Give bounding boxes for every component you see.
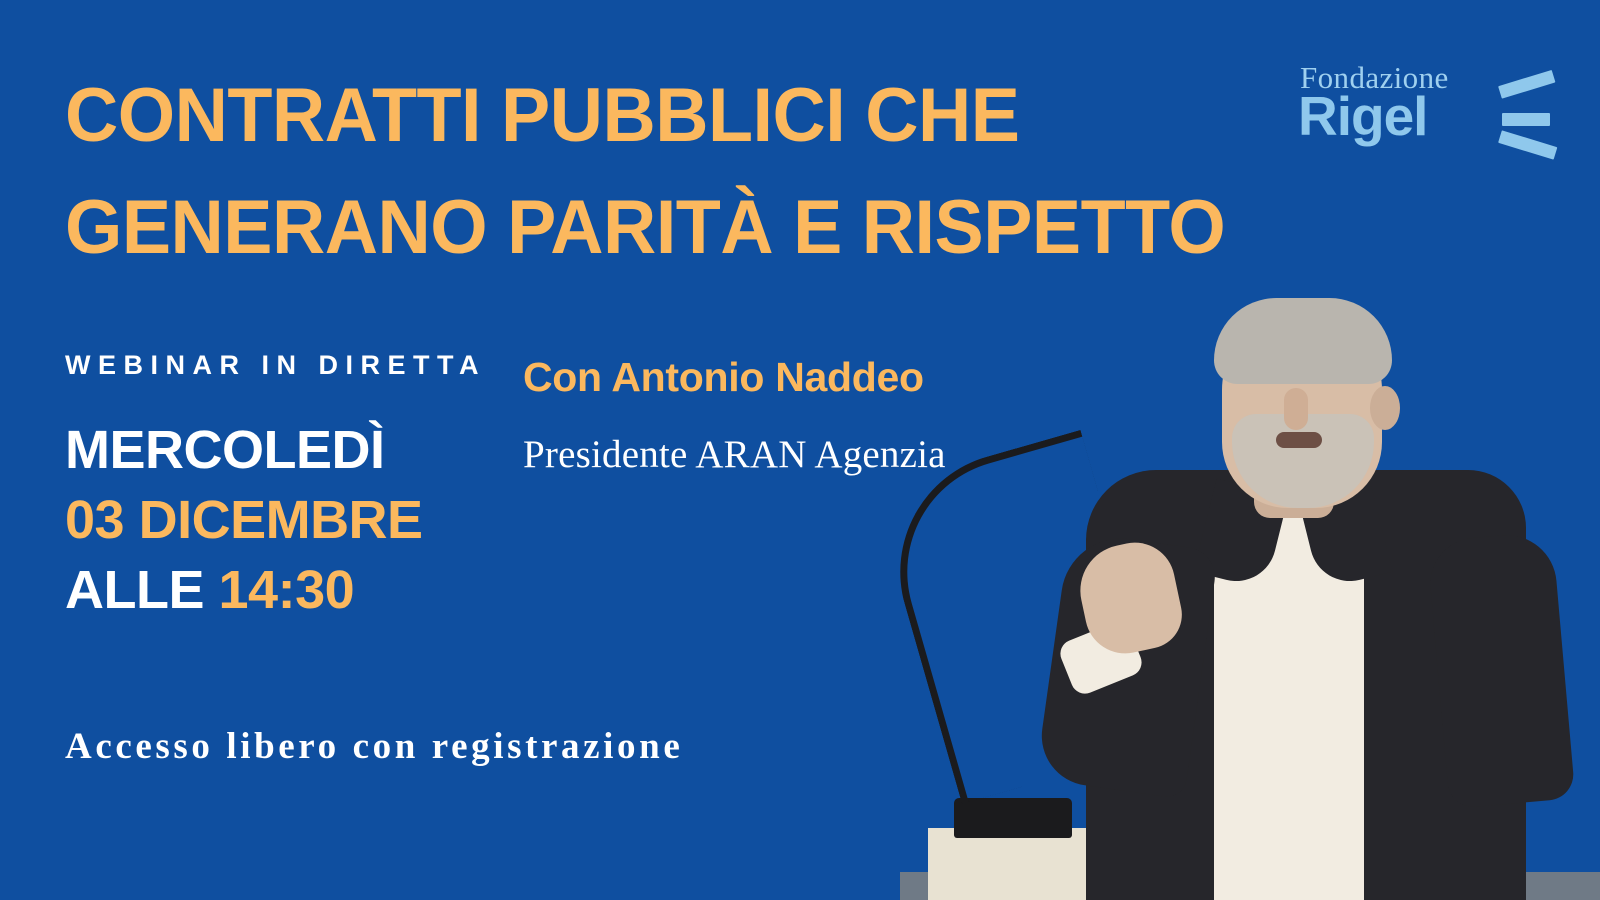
nose: [1284, 388, 1308, 430]
event-time: 14:30: [219, 560, 355, 620]
event-date-block: MERCOLEDÌ 03 DICEMBRE ALLE 14:30: [65, 415, 495, 625]
speaker-photo: [900, 280, 1600, 900]
logo-bar-bottom: [1498, 130, 1557, 159]
logo-bar-middle: [1502, 113, 1550, 126]
right-arm: [1427, 531, 1576, 809]
event-details: WEBINAR IN DIRETTA MERCOLEDÌ 03 DICEMBRE…: [65, 352, 495, 625]
three-bars-icon: [1486, 78, 1562, 160]
event-date: 03 DICEMBRE: [65, 485, 495, 555]
page-title: CONTRATTI PUBBLICI CHE GENERANO PARITÀ E…: [65, 60, 1285, 284]
mouth: [1276, 432, 1322, 448]
event-time-line: ALLE 14:30: [65, 555, 495, 625]
webinar-poster: Fondazione Rigel CONTRATTI PUBBLICI CHE …: [0, 0, 1600, 900]
event-kicker: WEBINAR IN DIRETTA: [65, 352, 495, 379]
event-day: MERCOLEDÌ: [65, 415, 495, 485]
title-line-2: GENERANO PARITÀ E RISPETTO: [65, 172, 1248, 284]
hair: [1214, 298, 1392, 384]
event-time-prefix: ALLE: [65, 560, 204, 620]
ear: [1370, 386, 1400, 430]
fondazione-rigel-logo: Fondazione Rigel: [1292, 62, 1562, 162]
title-line-1: CONTRATTI PUBBLICI CHE: [65, 60, 1248, 172]
logo-bar-top: [1498, 70, 1555, 99]
speaker-figure: [1008, 300, 1600, 900]
logo-rigel-text: Rigel: [1298, 89, 1427, 144]
registration-note: Accesso libero con registrazione: [65, 728, 683, 765]
